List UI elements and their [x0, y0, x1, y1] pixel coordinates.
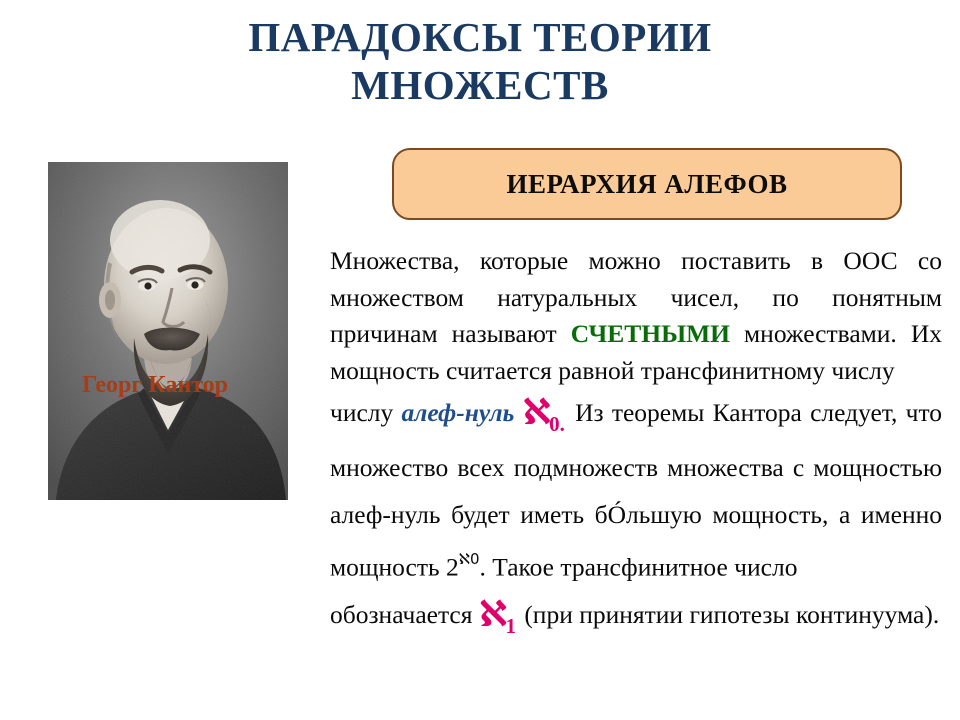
power-base: 2	[446, 553, 459, 582]
keyword-aleph-null: алеф-нуль	[402, 398, 515, 427]
page-title-line-1: ПАРАДОКСЫ ТЕОРИИ	[60, 14, 900, 62]
portrait-figure	[48, 162, 288, 500]
keyword-countable: СЧЕТНЫМИ	[571, 319, 730, 348]
aleph-one-symbol-icon: ℵ	[479, 594, 508, 635]
section-heading-box: ИЕРАРХИЯ АЛЕФОВ	[392, 148, 902, 220]
power-exponent: ℵ0	[459, 550, 480, 568]
aleph-one-subscript: 1	[505, 614, 516, 638]
section-heading-label: ИЕРАРХИЯ АЛЕФОВ	[506, 169, 787, 200]
body-p3-part1: обозначается	[330, 600, 479, 629]
body-paragraph-1: Множества, которые можно поставить в ООС…	[330, 243, 942, 389]
body-text-block: Множества, которые можно поставить в ООС…	[330, 243, 942, 646]
body-p2-part3: . Такое трансфинитное число	[480, 553, 798, 582]
page-title-line-2: МНОЖЕСТВ	[60, 62, 900, 110]
page-title: ПАРАДОКСЫ ТЕОРИИ МНОЖЕСТВ	[60, 14, 900, 110]
portrait-caption: Георг Кантор	[20, 372, 290, 399]
body-paragraph-3: обозначается ℵ1 (при принятии гипотезы к…	[330, 591, 942, 646]
portrait-photo-georg-cantor	[48, 162, 288, 500]
aleph-null-subscript: 0.	[549, 412, 565, 436]
body-p2-part1: числу	[330, 398, 402, 427]
body-paragraph-2: числу алеф-нуль ℵ0. Из теоремы Кантора с…	[330, 389, 942, 591]
body-p3-part2: (при принятии гипотезы континуума).	[518, 600, 939, 629]
aleph-null-symbol-icon: ℵ	[523, 392, 552, 433]
